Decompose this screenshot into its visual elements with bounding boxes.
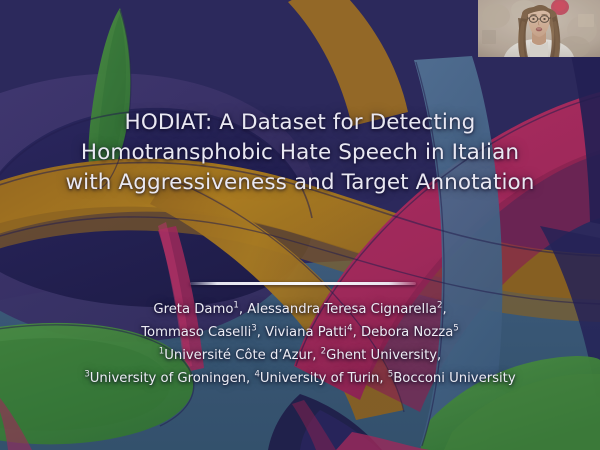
title-divider-rule	[190, 282, 416, 285]
affil-name: University of Turin,	[260, 371, 388, 386]
slide-content: HODIAT: A Dataset for Detecting Homotran…	[0, 0, 600, 450]
affil-name: Bocconi University	[393, 371, 515, 386]
webcam-image	[478, 0, 600, 57]
affiliation-line-2: 3University of Groningen, 4University of…	[0, 367, 600, 390]
affil-name: Université Côte d’Azur,	[164, 348, 320, 363]
affiliation-line-1: 1Université Côte d’Azur, 2Ghent Universi…	[0, 344, 600, 367]
author-separator: ,	[442, 302, 446, 317]
authors-and-affiliations: Greta Damo1, Alessandra Teresa Cignarell…	[0, 298, 600, 390]
affil-name: University of Groningen,	[90, 371, 255, 386]
slide-title: HODIAT: A Dataset for Detecting Homotran…	[0, 108, 600, 198]
author-line-1: Greta Damo1, Alessandra Teresa Cignarell…	[0, 298, 600, 321]
author-line-2: Tommaso Caselli3, Viviana Patti4, Debora…	[0, 321, 600, 344]
author-name: Greta Damo	[153, 302, 233, 317]
webcam-frame	[478, 0, 600, 57]
title-line-2: Homotransphobic Hate Speech in Italian	[0, 138, 600, 168]
affil-name: Ghent University,	[326, 348, 441, 363]
author-name: , Viviana Patti	[257, 325, 347, 340]
title-line-1: HODIAT: A Dataset for Detecting	[0, 108, 600, 138]
author-name: , Alessandra Teresa Cignarella	[239, 302, 437, 317]
title-line-3: with Aggressiveness and Target Annotatio…	[0, 168, 600, 198]
author-affil-marker: 5	[453, 324, 458, 334]
author-name: , Debora Nozza	[353, 325, 454, 340]
author-name: Tommaso Caselli	[141, 325, 251, 340]
presentation-slide: HODIAT: A Dataset for Detecting Homotran…	[0, 0, 600, 450]
presenter-webcam-video[interactable]	[478, 0, 600, 57]
